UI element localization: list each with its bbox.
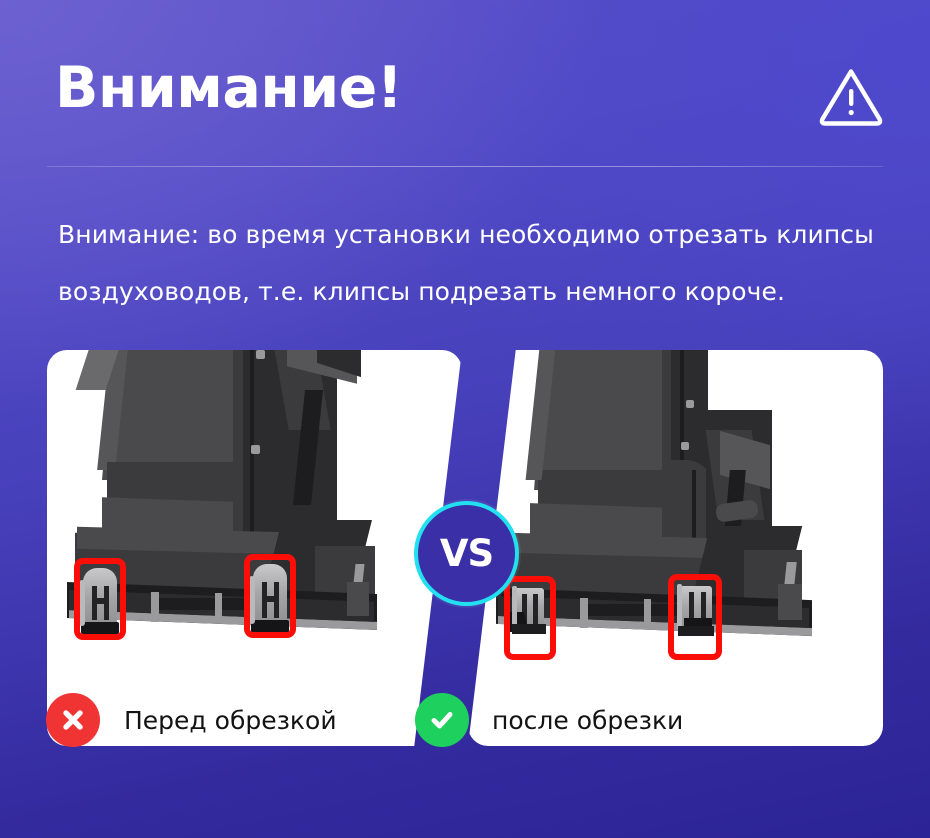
- after-caption: после обрезки: [492, 706, 683, 735]
- before-card[interactable]: [47, 350, 462, 746]
- cross-icon: [46, 693, 100, 747]
- after-card[interactable]: [468, 350, 883, 746]
- cross-glyph: [58, 705, 88, 735]
- check-icon: [415, 693, 469, 747]
- highlight-box: [244, 554, 296, 638]
- highlight-box: [668, 574, 722, 660]
- highlight-box: [74, 558, 126, 640]
- after-photo: [468, 350, 883, 680]
- highlight-box: [504, 576, 556, 660]
- before-photo: [47, 350, 462, 680]
- warning-triangle-icon: [818, 66, 884, 128]
- notice-text: Внимание: во время установки необходимо …: [58, 206, 888, 320]
- check-glyph: [426, 704, 458, 736]
- before-caption: Перед обрезкой: [124, 706, 337, 735]
- vs-badge: VS: [414, 501, 519, 606]
- header-divider: [47, 166, 883, 167]
- page-title: Внимание!: [55, 57, 402, 119]
- attention-banner: Внимание! Внимание: во время установки н…: [0, 0, 930, 838]
- header: Внимание!: [0, 0, 930, 170]
- vs-label: VS: [440, 532, 493, 575]
